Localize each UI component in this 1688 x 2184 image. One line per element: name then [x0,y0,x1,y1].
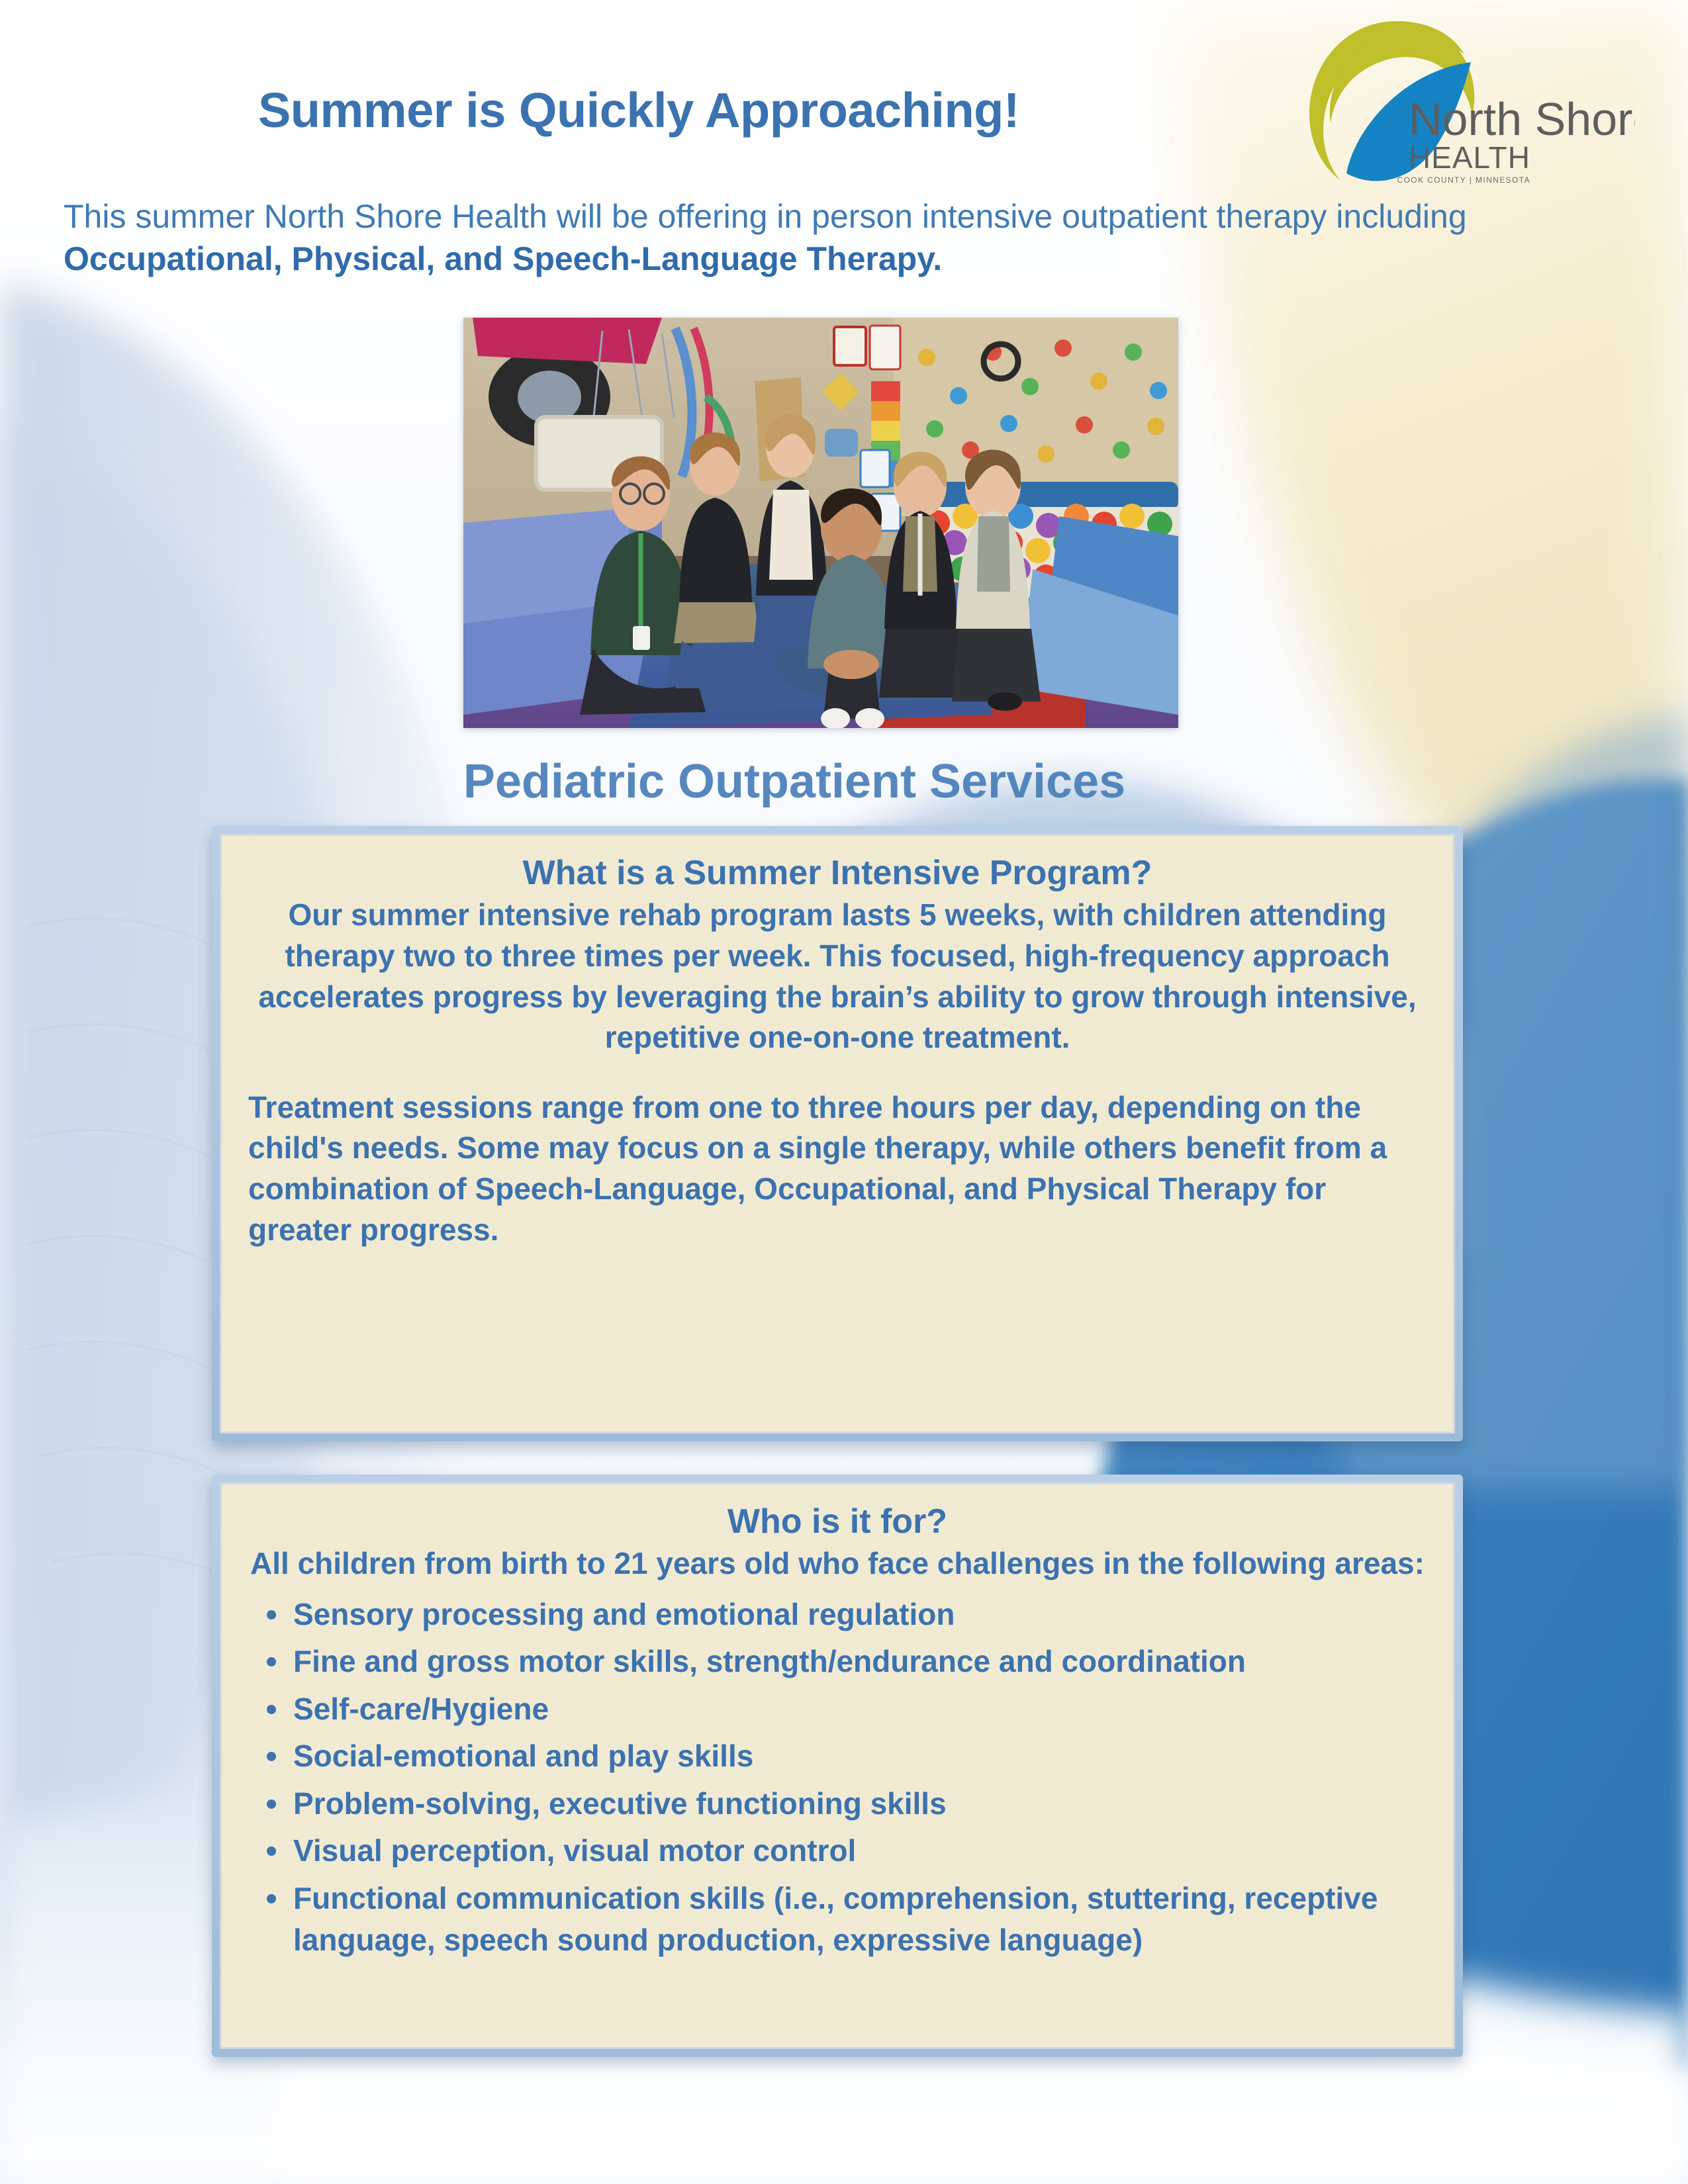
card2-lead: All children from birth to 21 years old … [248,1543,1427,1584]
intro-text-bold: Occupational, Physical, and Speech-Langu… [64,240,942,277]
card2-title: Who is it for? [248,1502,1427,1542]
list-item: Sensory processing and emotional regulat… [248,1594,1427,1635]
intro-paragraph: This summer North Shore Health will be o… [64,195,1540,280]
section-heading: Pediatric Outpatient Services [0,754,1589,809]
logo-name: North Shore [1409,93,1635,145]
list-item: Functional communication skills (i.e., c… [248,1878,1427,1962]
therapy-team-photo [463,318,1178,728]
logo-sub: HEALTH [1409,140,1530,175]
page-title: Summer is Quickly Approaching! [0,82,1278,138]
list-item: Self-care/Hygiene [248,1688,1427,1730]
list-item: Visual perception, visual motor control [248,1830,1427,1872]
eligibility-list: Sensory processing and emotional regulat… [248,1594,1427,1962]
card1-title: What is a Summer Intensive Program? [248,853,1427,893]
list-item: Social-emotional and play skills [248,1735,1427,1777]
card-summer-intensive-program: What is a Summer Intensive Program? Our … [212,826,1463,1441]
intro-text-regular: This summer North Shore Health will be o… [64,198,1467,235]
card1-paragraph-1: Our summer intensive rehab program lasts… [248,895,1427,1058]
north-shore-health-logo: North Shore HEALTH COOK COUNTY | MINNESO… [1297,9,1635,188]
list-item: Fine and gross motor skills, strength/en… [248,1641,1427,1682]
logo-tagline: COOK COUNTY | MINNESOTA [1397,175,1530,185]
card-who-is-it-for: Who is it for? All children from birth t… [212,1475,1463,2057]
card1-paragraph-2: Treatment sessions range from one to thr… [248,1087,1427,1251]
list-item: Problem-solving, executive functioning s… [248,1783,1427,1825]
card1-spacer [248,1058,1427,1087]
